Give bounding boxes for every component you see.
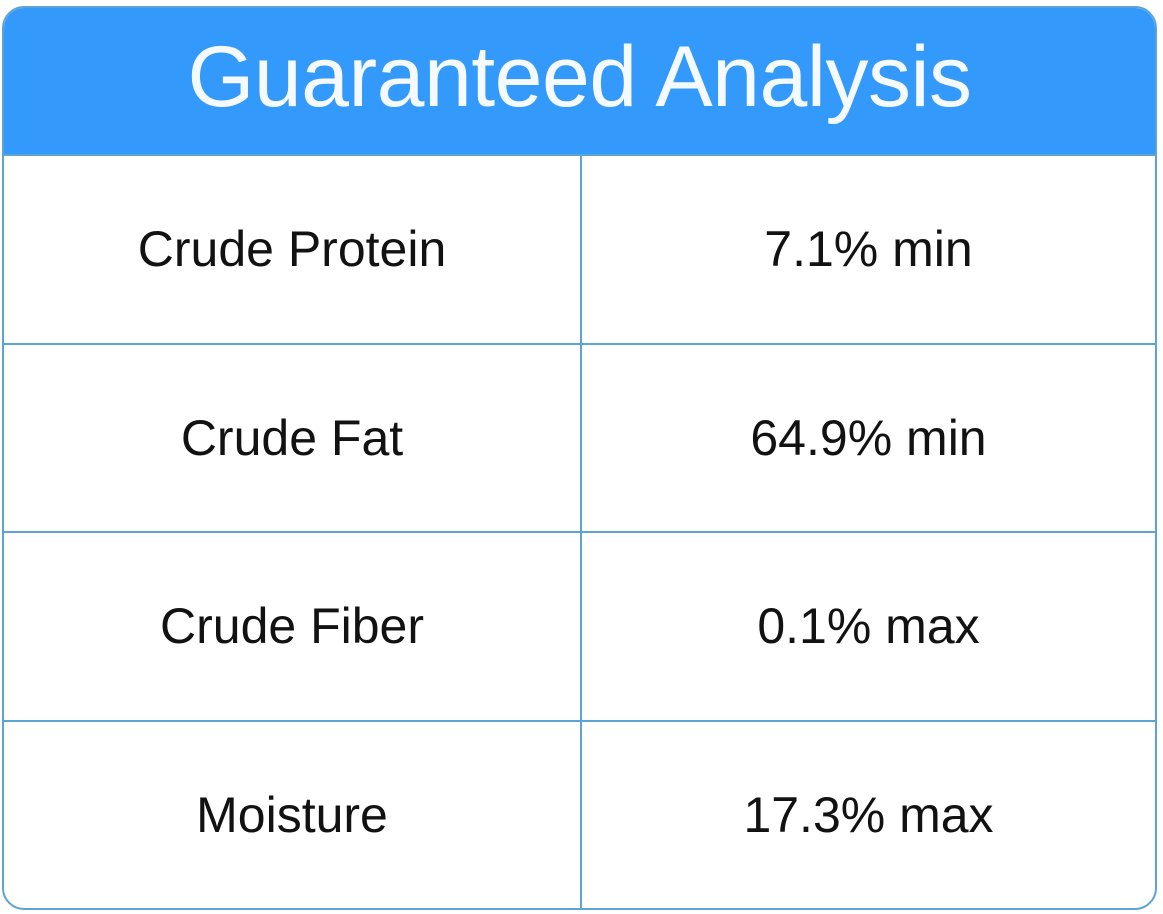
table-row: Crude Fat 64.9% min — [4, 345, 1155, 534]
table-row: Moisture 17.3% max — [4, 722, 1155, 909]
nutrient-value-cell: 64.9% min — [582, 345, 1155, 532]
nutrient-label-cell: Crude Fat — [4, 345, 582, 532]
table-row: Crude Fiber 0.1% max — [4, 533, 1155, 722]
table-row: Crude Protein 7.1% min — [4, 156, 1155, 345]
nutrient-value-cell: 17.3% max — [582, 722, 1155, 909]
nutrient-label-cell: Crude Fiber — [4, 533, 582, 720]
nutrient-label-cell: Moisture — [4, 722, 582, 909]
nutrient-value-cell: 7.1% min — [582, 156, 1155, 343]
guaranteed-analysis-table: Crude Protein 7.1% min Crude Fat 64.9% m… — [4, 156, 1155, 908]
nutrient-label-cell: Crude Protein — [4, 156, 582, 343]
page-title: Guaranteed Analysis — [187, 34, 971, 128]
nutrient-value-cell: 0.1% max — [582, 533, 1155, 720]
card-header: Guaranteed Analysis — [4, 8, 1155, 156]
guaranteed-analysis-card: Guaranteed Analysis Crude Protein 7.1% m… — [2, 6, 1157, 910]
